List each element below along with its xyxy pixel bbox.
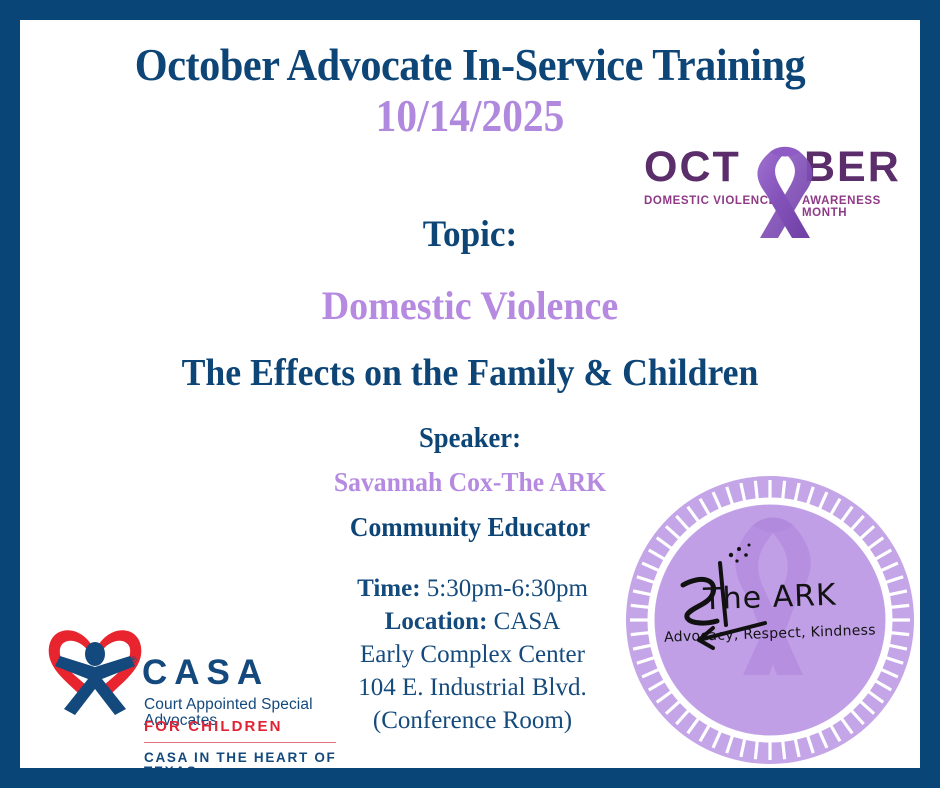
page-title: October Advocate In-Service Training: [47, 42, 893, 89]
casa-child-in-heart-icon: [42, 611, 148, 719]
casa-logo: ® CASA Court Appointed Special Advocates…: [38, 605, 348, 768]
casa-divider: [144, 742, 336, 743]
topic-main: Domestic Violence: [43, 282, 898, 329]
topic-label: Topic:: [43, 213, 898, 256]
registered-trademark-icon: ®: [130, 655, 137, 665]
awareness-word-left: OCT: [644, 146, 741, 189]
location-label: Location:: [385, 608, 488, 635]
the-ark-circular-seal-icon: [625, 475, 915, 765]
location-value: CASA: [494, 608, 561, 635]
flyer-canvas: October Advocate In-Service Training 10/…: [20, 20, 920, 768]
time-label: Time:: [357, 575, 420, 602]
the-ark-logo: The ARK Advocacy, Respect, Kindness: [625, 475, 915, 765]
event-flyer: October Advocate In-Service Training 10/…: [0, 0, 940, 788]
detail-row-time: Time: 5:30pm-6:30pm: [285, 572, 660, 605]
casa-wordmark: CASA: [142, 655, 269, 690]
event-date: 10/14/2025: [56, 93, 884, 140]
casa-tagline-for-children: FOR CHILDREN: [144, 719, 283, 734]
speaker-label: Speaker:: [43, 423, 898, 455]
topic-subtitle: The Effects on the Family & Children: [47, 351, 893, 395]
casa-chapter-name: CASA IN THE HEART OF TEXAS: [144, 751, 348, 768]
time-value: 5:30pm-6:30pm: [427, 575, 588, 602]
